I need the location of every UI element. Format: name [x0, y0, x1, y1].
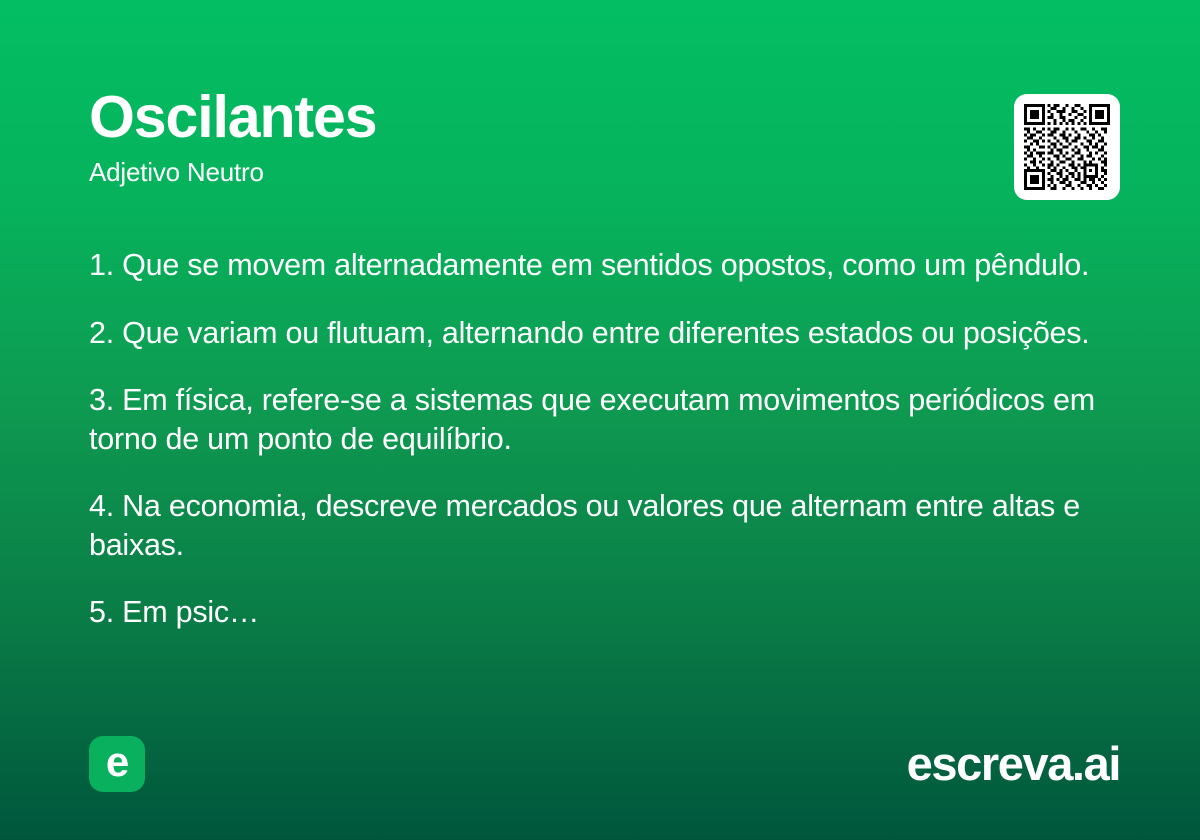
definition-item: 5. Em psic… [89, 593, 1101, 632]
definition-item: 1. Que se movem alternadamente em sentid… [89, 246, 1101, 285]
dictionary-card: Oscilantes Adjetivo Neutro [0, 0, 1200, 840]
page-title: Oscilantes [89, 84, 1110, 150]
qr-code-icon[interactable] [1014, 94, 1120, 200]
word-class-subtitle: Adjetivo Neutro [89, 156, 1110, 188]
definitions-list: 1. Que se movem alternadamente em sentid… [89, 246, 1101, 632]
definition-item: 4. Na economia, descreve mercados ou val… [89, 487, 1101, 564]
brand-wordmark: escreva.ai [907, 738, 1120, 790]
definition-item: 3. Em física, refere-se a sistemas que e… [89, 381, 1101, 458]
card-header: Oscilantes Adjetivo Neutro [89, 84, 1110, 219]
logo-letter: e [106, 741, 128, 783]
definition-item: 2. Que variam ou flutuam, alternando ent… [89, 314, 1101, 353]
card-footer: e escreva.ai [89, 736, 1120, 792]
escreva-logo-icon[interactable]: e [89, 736, 145, 792]
